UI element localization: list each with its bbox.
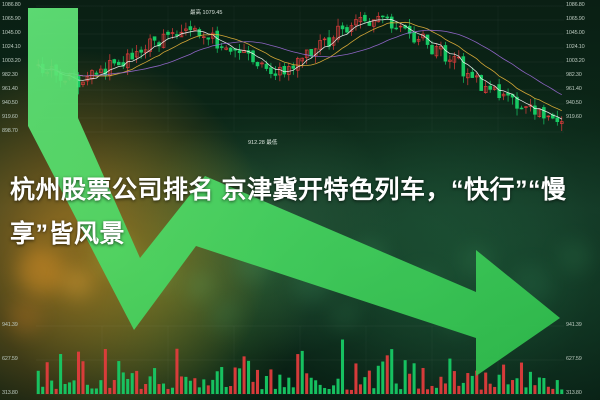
y-axis-tick-right: 1065.90 <box>566 16 584 22</box>
volume-chart: 941.39941.39627.59627.59313.80313.80 <box>0 320 600 400</box>
y-axis-tick-left: 961.40 <box>2 86 18 92</box>
annotation-low: 912.28 最低 <box>248 138 277 146</box>
volume-tick-left: 941.39 <box>2 322 18 328</box>
y-axis-tick-left: 982.30 <box>2 72 18 78</box>
image-canvas: 1086.801065.901045.001024.101003.20982.3… <box>0 0 600 400</box>
y-axis-tick-left: 1003.20 <box>2 58 20 64</box>
y-axis-tick-right: 919.60 <box>566 114 582 120</box>
y-axis-tick-left: 919.60 <box>2 114 18 120</box>
volume-svg <box>0 320 600 400</box>
candlestick-svg <box>0 0 600 150</box>
y-axis-tick-right: 1045.00 <box>566 30 584 36</box>
y-axis-tick-right: 961.40 <box>566 86 582 92</box>
y-axis-tick-right: 940.50 <box>566 100 582 106</box>
y-axis-tick-left: 940.50 <box>2 100 18 106</box>
y-axis-tick-left: 1045.00 <box>2 30 20 36</box>
bokeh-light <box>512 264 552 304</box>
y-axis-tick-left: 1065.90 <box>2 16 20 22</box>
bokeh-light <box>292 262 332 302</box>
bokeh-light <box>404 268 442 306</box>
bokeh-light <box>140 258 174 292</box>
y-axis-tick-right: 982.30 <box>566 72 582 78</box>
y-axis-tick-right: 1003.20 <box>566 58 584 64</box>
bokeh-light <box>62 268 92 298</box>
volume-tick-left: 313.80 <box>2 390 18 396</box>
volume-tick-right: 941.39 <box>566 322 582 328</box>
volume-tick-left: 627.59 <box>2 356 18 362</box>
volume-tick-right: 627.59 <box>566 356 582 362</box>
y-axis-tick-left: 898.70 <box>2 128 18 134</box>
y-axis-tick-left: 1086.80 <box>2 2 20 8</box>
y-axis-tick-right: 1086.80 <box>566 2 584 8</box>
y-axis-tick-left: 1024.10 <box>2 44 20 50</box>
y-axis-tick-right: 1024.10 <box>566 44 584 50</box>
volume-tick-right: 313.80 <box>566 390 582 396</box>
annotation-high: 最高 1079.45 <box>190 8 222 16</box>
headline-text: 杭州股票公司排名 京津冀开特色列车，“快行”“慢享”皆风景 <box>10 168 590 256</box>
bokeh-light <box>186 272 214 300</box>
candlestick-chart: 1086.801065.901045.001024.101003.20982.3… <box>0 0 600 150</box>
